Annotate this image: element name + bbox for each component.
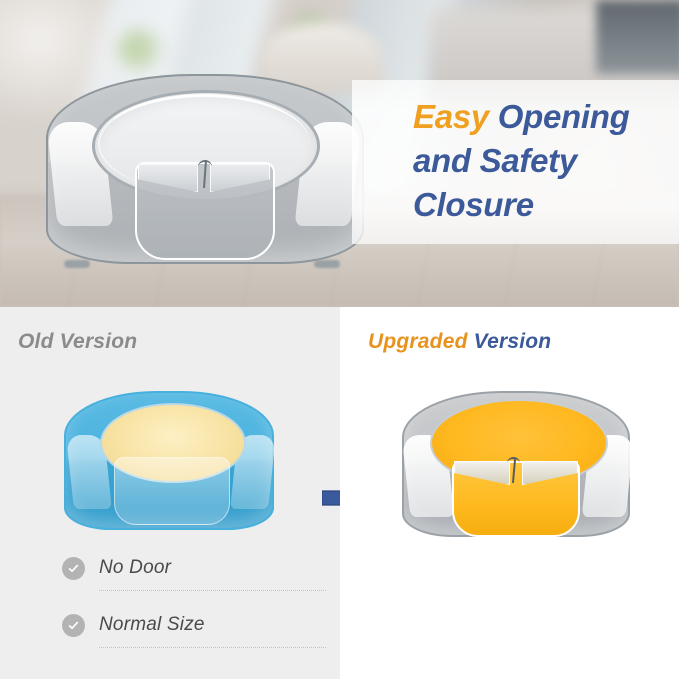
product-comparison-infographic: Easy Opening and Safety Closure Old Vers… [0,0,679,679]
headline-line1-rest: Opening [489,98,630,135]
feature-label: No Door [99,557,171,579]
upgraded-title-rest: Version [468,330,552,353]
feature-underline [99,590,326,591]
old-version-product-illustration [58,373,280,538]
headline-line3: Closure [413,186,534,223]
old-playpen-closed-front-panel [114,457,230,525]
hero-playpen-illustration [38,44,368,276]
old-version-title: Old Version [18,330,137,354]
list-item: Normal Size [62,610,310,640]
playpen-foot-left [64,260,90,268]
zipper-pull-icon [506,457,522,483]
upgraded-version-product-illustration [396,373,636,545]
hero-headline: Easy Opening and Safety Closure [413,95,679,227]
check-badge-icon [62,614,85,637]
headline-accent-word: Easy [413,98,489,135]
feature-label: Normal Size [99,614,205,636]
zipper-pull-icon [196,160,214,190]
old-version-feature-list: No Door Normal Size [62,553,310,667]
list-item: No Door [62,553,310,583]
upgraded-version-panel: Upgraded Version [340,307,679,679]
hero-product-photo: Easy Opening and Safety Closure [0,0,679,307]
tv-blur [596,0,679,74]
upgraded-title-accent: Upgraded [368,330,468,353]
feature-underline [99,647,326,648]
headline-line2: and Safety [413,142,577,179]
old-version-panel: Old Version No Door [0,307,340,679]
check-badge-icon [62,557,85,580]
playpen-foot-right [314,260,340,268]
comparison-section: Old Version No Door [0,307,679,679]
upgraded-version-title: Upgraded Version [368,330,551,354]
